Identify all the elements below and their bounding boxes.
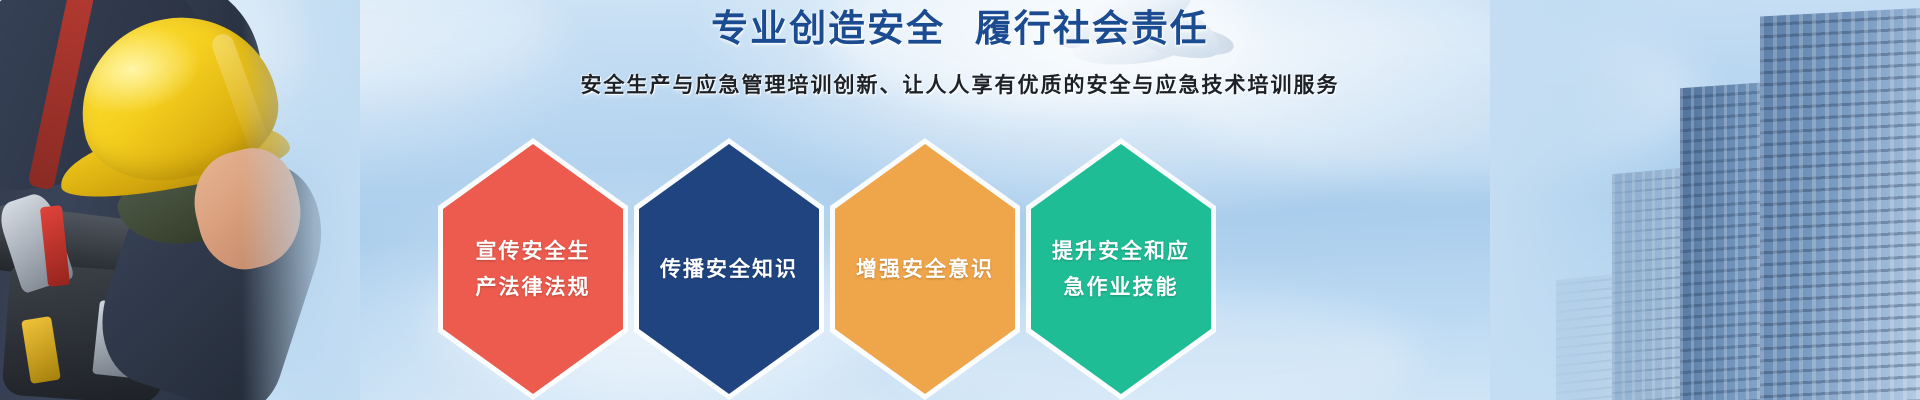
- badge-label: 提升安全和应 急作业技能: [1026, 138, 1216, 400]
- badge-label: 宣传安全生 产法律法规: [438, 138, 628, 400]
- badge-awareness[interactable]: 增强安全意识: [830, 138, 1020, 400]
- badge-skills[interactable]: 提升安全和应 急作业技能: [1026, 138, 1216, 400]
- banner-title: 专业创造安全 履行社会责任: [0, 4, 1920, 54]
- badge-label: 传播安全知识: [634, 138, 824, 400]
- banner-subtitle: 安全生产与应急管理培训创新、让人人享有优质的安全与应急技术培训服务: [0, 70, 1920, 100]
- badge-knowledge[interactable]: 传播安全知识: [634, 138, 824, 400]
- badge-label: 增强安全意识: [830, 138, 1020, 400]
- badge-law-promotion[interactable]: 宣传安全生 产法律法规: [438, 138, 628, 400]
- safety-training-banner: 专业创造安全 履行社会责任 安全生产与应急管理培训创新、让人人享有优质的安全与应…: [0, 0, 1920, 400]
- headline-block: 专业创造安全 履行社会责任 安全生产与应急管理培训创新、让人人享有优质的安全与应…: [0, 4, 1920, 100]
- badge-row: 宣传安全生 产法律法规 传播安全知识 增强安全意识 提升安全和应 急作业技能: [438, 138, 1478, 400]
